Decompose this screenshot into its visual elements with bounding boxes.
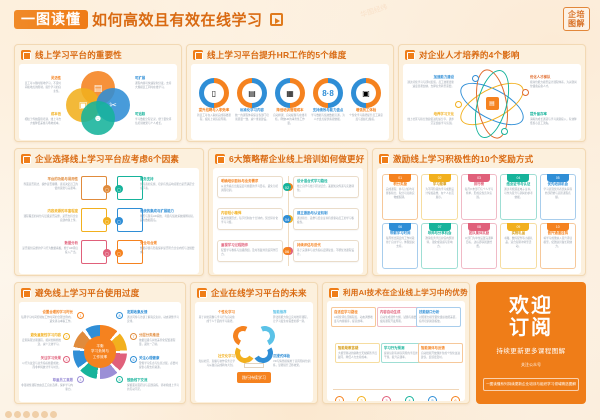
strategy-dot-6: 06 (283, 247, 291, 255)
ai-card-1: 自适应学习路径 AI持续评估掌握程度，动态调整难度与内容顺序，提高效率。 (331, 307, 376, 327)
chart-square-icon (405, 50, 415, 60)
card-header: 企业选择线上学习平台应考虑6个因素 (15, 149, 203, 167)
donut-node-6: 6 (130, 356, 137, 363)
atom-label-4: 提升留存率 清晰的成长通道与学习资源投入，有效降低核心员工流失。 (530, 112, 578, 126)
strategy-row-1: 明确培训目标与业务需求 从业务痛点出发设定可衡量的学习目标，避免为培训而培训。 … (217, 176, 293, 198)
venn-diagram: ▤ ▣ ✂ ☻ (66, 71, 130, 133)
timeline-axis (333, 389, 459, 390)
reward-ticket-8[interactable]: 08 团队集体奖励 以部门为单位设置完课率目标，达标即获团建经费。 (461, 223, 497, 269)
card-ai-advantages[interactable]: 利用AI技术在企业线上学习中的优势 自适应学习路径 AI持续评估掌握程度，动态调… (322, 282, 470, 404)
venn-label-3: 可扩展 课程内容可快速复制分发，支持大规模员工同时在线学习。 (135, 76, 173, 90)
timeline-node-6: 6 (451, 396, 460, 401)
factor-dot-4: ▢ (115, 185, 123, 193)
timeline-node-2: 2 (357, 396, 366, 401)
reward-ticket-10[interactable]: 10 晋升通道挂钩 将学习成果纳入晋升评估模型，使激励具备长期效力。 (540, 223, 576, 269)
atom-label-3: 优化人才梯队 按岗位能力模型设计课程体系，为关键岗位储备后备人才。 (530, 75, 578, 89)
chart-square-icon (21, 154, 31, 164)
ring-item: ▣ 增强员工体验 个性化学习路径提升员工满意度与组织归属感。 (349, 78, 383, 125)
donut-center: 平衡 学习负荷与 工作效率 (84, 336, 116, 368)
subscribe-title: 欢迎 订阅 (476, 295, 586, 340)
future-button[interactable]: 践行持续学习 (237, 372, 271, 383)
lightbulb-diagram: 践行持续学习 (231, 322, 277, 374)
ring-flow: ▯ 提升招聘与入职效率 新员工可在入职前完成基础课程，缩短上岗适应周期。 ▤ 标… (197, 78, 383, 125)
factor-dot-6: ▢ (115, 249, 123, 257)
timeline-node-3: 3 (382, 396, 391, 401)
card-header: 线上学习平台的重要性 (15, 45, 181, 63)
title-tag: 一图读懂 (14, 10, 88, 29)
card-title: 6大策略帮企业线上培训如何做更好 (229, 153, 364, 165)
donut-node-4: 4 (77, 376, 84, 383)
chart-square-icon (193, 50, 203, 60)
ring-item: 8·8 支持绩效与能力盘点 学习数据与绩效数据打通，为人才盘点提供客观依据。 (311, 78, 345, 125)
title-block: 一图读懂 如何高效且有效在线学习 (14, 9, 283, 30)
corner-badge-line1: 企培 (568, 10, 585, 19)
poster-header: 一图读懂 如何高效且有效在线学习 企培 图解 (0, 0, 600, 42)
card-body: ▢ 平台的功能与易用性 界面是否简洁、操作是否顺畅，直接决定员工的使用意愿与完课… (19, 168, 199, 274)
card-six-strategies[interactable]: 6大策略帮企业线上培训如何做更好 明确培训目标与业务需求 从业务痛点出发设定可衡… (208, 148, 368, 276)
social-icon-6[interactable] (50, 411, 57, 418)
card-ten-rewards[interactable]: 激励线上学习积极性的10个奖励方式 01 积分奖励 完成课程、参与讨论均可累积积… (372, 148, 586, 276)
card-body: 01 积分奖励 完成课程、参与讨论均可累积积分，积分可兑换实物或假期。 02 学… (377, 168, 581, 274)
strategy-card-5: 重视学习过程陪伴 配置学习教练与班级群组，及时答疑并营造同伴压力。 (217, 240, 283, 262)
subscribe-subtitle: 持续更新更多课程图解 (476, 345, 586, 355)
strategy-card-4: 建立激励与认证机制 通过积分、勋章与结业证书持续驱动员工的学习积极性。 (293, 208, 359, 230)
social-icon-4[interactable] (32, 411, 39, 418)
ai-card-6: 智能测评与反馈 自动批阅开放题并生成个性化改进建议，反馈更及时。 (418, 343, 463, 363)
bulb-base (244, 363, 264, 368)
strategy-dot-2: 02 (283, 183, 291, 191)
donut-node-2: 2 (63, 333, 70, 340)
orbit-node-2 (455, 101, 462, 108)
donut-node-5: 5 (116, 376, 123, 383)
card-title: 企业在线学习平台的未来 (211, 287, 307, 299)
card-header: 对企业人才培养的4个影响 (399, 45, 585, 63)
card-body: 明确培训目标与业务需求 从业务痛点出发设定可衡量的学习目标，避免为培训而培训。 … (213, 168, 363, 274)
factor-label-1: 平台的功能与易用性 界面是否简洁、操作是否顺畅，直接决定员工的使用意愿与完课率。 (22, 177, 78, 191)
venn-circle-4: ☻ (81, 101, 115, 135)
social-icon-2[interactable] (14, 411, 21, 418)
ring-2: ▤ (237, 78, 267, 108)
venn-label-2: 成本低 相较于传统面授培训，线上平台大幅降低差旅与场地成本。 (23, 112, 61, 126)
chart-square-icon (329, 288, 339, 298)
donut-node-3: 3 (63, 356, 70, 363)
card-body: 平衡 学习负荷与 工作效率 1 2 3 4 5 6 7 8 设置合理的学习时长 … (19, 302, 181, 402)
strategy-row-3: 内容短小精悍 采用微课形式，每节控制在十分钟内，契合碎片化学习习惯。 03 (217, 208, 293, 230)
corner-badge: 企培 图解 (563, 7, 590, 31)
future-label-3: 社交化学习 知识社区、直播与协作任务让学习从独自完成转向共创。 (197, 354, 235, 368)
overuse-label-2: 避免重复性学习内容 定期清理过期课程，按岗位精准推送，减少无效学习。 (21, 333, 61, 347)
ai-card-2: 智能助教答疑 大模型驱动的助教全天候解答学员疑问，降低人力支持成本。 (335, 343, 380, 363)
overuse-label-4: 尊重员工意愿 非强制性课程交由员工自主选择，保护学习内驱力。 (21, 378, 73, 392)
reward-ticket-7[interactable]: 07 导师与分享机会 邀请优秀学员担任内部讲师，强化成就感与影响力。 (421, 223, 457, 269)
chart-square-icon (21, 288, 31, 298)
atom-label-2: 培养学习文化 线上社区与积分激励促进知识分享，逐步沉淀组织学习氛围。 (406, 112, 454, 126)
card-body: ▤ ▣ ✂ ☻ 灵活性 员工可以随时随地学习，不受时间和地点的限制，提升学习的自… (19, 64, 177, 140)
donut-node-7: 7 (130, 333, 137, 340)
card-body: 自适应学习路径 AI持续评估掌握程度，动态调整难度与内容顺序，提高效率。 智能助… (327, 301, 465, 401)
social-icon-3[interactable] (23, 411, 30, 418)
infographic-poster: 华图经纬 华图经纬 华图经纬 华图经纬 华图经纬 一图读懂 如何高效且有效在线学… (0, 0, 600, 420)
chart-square-icon (379, 154, 389, 164)
card-header: 企业在线学习平台的未来 (191, 283, 317, 301)
social-icon-1[interactable] (5, 411, 12, 418)
page-title: 如何高效且有效在线学习 (92, 9, 263, 30)
overuse-label-8: 定期收集反馈 通过问卷与访谈了解真实负担，动态调整学习安排。 (127, 310, 179, 324)
future-label-4: 沉浸式体验 VR与情景模拟用于高风险岗位训练，显著提升迁移效果。 (273, 354, 311, 368)
factor-label-2: 内容资源的丰富程度 课程覆盖的岗位与层级是否完整，是否支持企业自建内容上传。 (22, 209, 78, 223)
venn-label-1: 灵活性 员工可以随时随地学习，不受时间和地点的限制，提升学习的自主性。 (23, 76, 61, 93)
card-avoid-overuse[interactable]: 避免线上学习平台使用过度 平衡 学习负荷与 工作效率 1 2 3 4 5 6 7… (14, 282, 186, 404)
reward-ticket-3[interactable]: 03 排行榜 每月公布部门与个人学习榜单，形成良性竞争氛围。 (461, 174, 497, 220)
ring-1: ▯ (199, 78, 229, 108)
card-title: 利用AI技术在企业线上学习中的优势 (343, 287, 468, 298)
factor-dot-1: ▢ (103, 185, 111, 193)
strategy-dot-4: 04 (283, 215, 291, 223)
card-header: 利用AI技术在企业线上学习中的优势 (323, 283, 469, 300)
reward-ticket-1[interactable]: 01 积分奖励 完成课程、参与讨论均可累积积分，积分可兑换实物或假期。 (382, 174, 418, 220)
venn-label-4: 可追踪 学习数据全程记录，便于量化评估培训效果与个人成长。 (135, 112, 173, 126)
social-icon-5[interactable] (41, 411, 48, 418)
strategy-row-6: 06 持续评估与迭代 基于完课率与业务指标定期复盘，不断优化课程设计。 (283, 240, 359, 262)
ai-card-5: 技能缺口分析 对照能力模型量化组织技能差距，指导培训资源投放。 (416, 307, 461, 327)
timeline-node-1: 1 (335, 396, 344, 401)
reward-ticket-5[interactable]: 05 优先培训机会 学习表现优异者优先获得外部研修与高阶课程名额。 (540, 174, 576, 220)
bulb-arc-4 (251, 341, 275, 365)
social-icons (5, 411, 57, 418)
strategy-card-6: 持续评估与迭代 基于完课率与业务指标定期复盘，不断优化课程设计。 (293, 240, 359, 262)
strategy-row-2: 02 设计混合式学习路径 线上自学与线下研讨结合，兼顾知识传递与实践转化。 (283, 176, 359, 198)
overuse-label-5: 鼓励线下交流 保留面对面研讨与实践演练，弥补纯线上学习的互动不足。 (127, 378, 179, 392)
reward-ticket-9[interactable]: 09 实物礼品 书籍、数码配件等小额礼品，适合短期冲刺型活动。 (500, 223, 536, 269)
timeline-node-4: 4 (405, 396, 414, 401)
ring-5: ▣ (351, 78, 381, 108)
card-header: 6大策略帮企业线上培训如何做更好 (209, 149, 367, 167)
strategy-card-3: 内容短小精悍 采用微课形式，每节控制在十分钟内，契合碎片化学习习惯。 (217, 208, 283, 230)
chart-square-icon (215, 154, 225, 164)
subscribe-note: 一图读懂系列持续更新企业培训与组织学习领域精选图解 (483, 378, 579, 391)
card-talent-impact[interactable]: 对企业人才培养的4个影响 ▤ 加速能力建设 通过持续学习与即时反馈，员工技能更新… (398, 44, 586, 142)
card-header: 激励线上学习积极性的10个奖励方式 (373, 149, 585, 167)
ring-3: ▦ (275, 78, 305, 108)
subscribe-tag: 关注公众号 (476, 362, 586, 368)
card-title: 企业选择线上学习平台应考虑6个因素 (35, 153, 179, 165)
card-body: ▤ 加速能力建设 通过持续学习与即时反馈，员工技能更新速度显著加快，支撑业务转型… (403, 64, 581, 140)
chart-square-icon (197, 288, 207, 298)
factor-label-3: 数据分析 是否提供完整的学习行为数据看板，便于HR评估投入产出。 (22, 241, 78, 255)
overuse-label-7: 分层分类推送 依据层级与岗位差异化配置课程量，避免一刀切。 (139, 333, 179, 347)
timeline-node-5: 5 (428, 396, 437, 401)
overuse-label-6: 关注心理健康 警惕学习焦虑与信息过载，必要时提供心理支持资源。 (139, 356, 179, 370)
factor-dot-5: ▢ (115, 217, 123, 225)
atom-label-1: 加速能力建设 通过持续学习与即时反馈，员工技能更新速度显著加快，支撑业务转型需要… (406, 75, 454, 89)
card-importance[interactable]: 线上学习平台的重要性 ▤ ▣ ✂ ☻ 灵活性 员工可以随时随地学习，不受时间和地… (14, 44, 182, 142)
ticket-grid: 01 积分奖励 完成课程、参与讨论均可累积积分，积分可兑换实物或假期。 02 学… (382, 174, 576, 269)
orbit-node-1 (472, 75, 479, 82)
strategy-row-4: 04 建立激励与认证机制 通过积分、勋章与结业证书持续驱动员工的学习积极性。 (283, 208, 359, 230)
orbit-node-3 (522, 89, 529, 96)
play-book-icon (270, 13, 283, 26)
card-title: 对企业人才培养的4个影响 (419, 49, 520, 61)
reward-ticket-2[interactable]: 02 学习勋章 为不同阶段的学习成果设计专属勋章，在个人主页展示。 (421, 174, 457, 220)
future-label-1: 个性化学习 基于岗位画像与学习行为自动生成千人千面的学习路径。 (197, 310, 235, 324)
ring-4: 8·8 (313, 78, 343, 108)
donut-radial-diagram: 平衡 学习负荷与 工作效率 (73, 325, 127, 379)
factor-label-4: 服务支持 供应商的实施、培训与售后响应能力是否满足企业节奏。 (140, 177, 196, 191)
subscribe-panel[interactable]: 欢迎 订阅 持续更新更多课程图解 关注公众号 一图读懂系列持续更新企业培训与组织… (476, 282, 586, 404)
corner-badge-line2: 图解 (568, 19, 585, 28)
card-header: 线上学习平台提升HR工作的5个维度 (187, 45, 393, 63)
overuse-label-1: 设置合理的学习时长 每周学习时间控制在工作时间的合理比例内，避免挤占本职工作。 (21, 310, 73, 324)
reward-ticket-4[interactable]: 04 结业证书与认证 通过考核颁发电子证书，可作为晋升与调岗的参考依据。 (500, 174, 536, 220)
building-icon: ▤ (486, 97, 499, 110)
donut-node-1: 1 (77, 312, 84, 319)
factor-dot-2: ▢ (103, 217, 111, 225)
card-title: 线上学习平台提升HR工作的5个维度 (207, 49, 346, 61)
future-label-2: 智能推荐 算法按能力缺口实时推荐课程，让学习发生在需要的那一刻。 (273, 310, 311, 324)
card-title: 避免线上学习平台使用过度 (35, 287, 139, 299)
overuse-label-3: 关注学习效果 以行为改变与业务指标衡量成效，而非单纯统计学习时长。 (21, 356, 61, 370)
card-six-factors[interactable]: 企业选择线上学习平台应考虑6个因素 ▢ 平台的功能与易用性 界面是否简洁、操作是… (14, 148, 204, 276)
strategy-card-1: 明确培训目标与业务需求 从业务痛点出发设定可衡量的学习目标，避免为培训而培训。 (217, 176, 283, 198)
subscribe-line1: 欢迎 (509, 295, 553, 317)
card-header: 避免线上学习平台使用过度 (15, 283, 185, 301)
card-hr-dimensions[interactable]: 线上学习平台提升HR工作的5个维度 ▯ 提升招聘与入职效率 新员工可在入职前完成… (186, 44, 394, 142)
card-body: ▯ 提升招聘与入职效率 新员工可在入职前完成基础课程，缩短上岗适应周期。 ▤ 标… (191, 64, 389, 140)
strategy-card-2: 设计混合式学习路径 线上自学与线下研讨结合，兼顾知识传递与实践转化。 (293, 176, 359, 198)
card-title: 线上学习平台的重要性 (35, 49, 122, 61)
orbit-node-4 (501, 128, 508, 135)
card-title: 激励线上学习积极性的10个奖励方式 (393, 153, 533, 165)
factor-label-5: 系统的集成与扩展能力 能否与现有HR系统、考勤与绩效系统顺畅对接，避免数据孤岛。 (140, 209, 196, 223)
factor-label-6: 安全与合规 数据存储与隐私保护是否符合企业内控与法规要求。 (140, 241, 196, 255)
atom-orbit-diagram: ▤ (455, 73, 529, 135)
strategy-row-5: 重视学习过程陪伴 配置学习教练与班级群组，及时答疑并营造同伴压力。 05 (217, 240, 293, 262)
ring-item: ▦ 降低培训管理成本 自动排课、自动提醒与在线考核，释放HR的事务性工作量。 (273, 78, 307, 125)
card-body: 践行持续学习 个性化学习 基于岗位画像与学习行为自动生成千人千面的学习路径。 智… (195, 302, 313, 402)
factor-dot-3: ▢ (103, 249, 111, 257)
ring-item: ▯ 提升招聘与入职效率 新员工可在入职前完成基础课程，缩短上岗适应周期。 (197, 78, 231, 125)
ring-item: ▤ 标准化学习内容 统一的课程体系保证各部门培训质量一致，减少重复建设。 (235, 78, 269, 125)
card-future[interactable]: 企业在线学习平台的未来 践行持续学习 个性化学习 基于岗位画像与学习行为自动生成… (190, 282, 318, 404)
subscribe-line2: 订阅 (509, 317, 553, 339)
chart-square-icon (21, 50, 31, 60)
donut-node-8: 8 (116, 312, 123, 319)
reward-ticket-6[interactable]: 06 带薪学习时间 每周划出固定的工作时段用于自主学习，体现组织支持。 (382, 223, 418, 269)
